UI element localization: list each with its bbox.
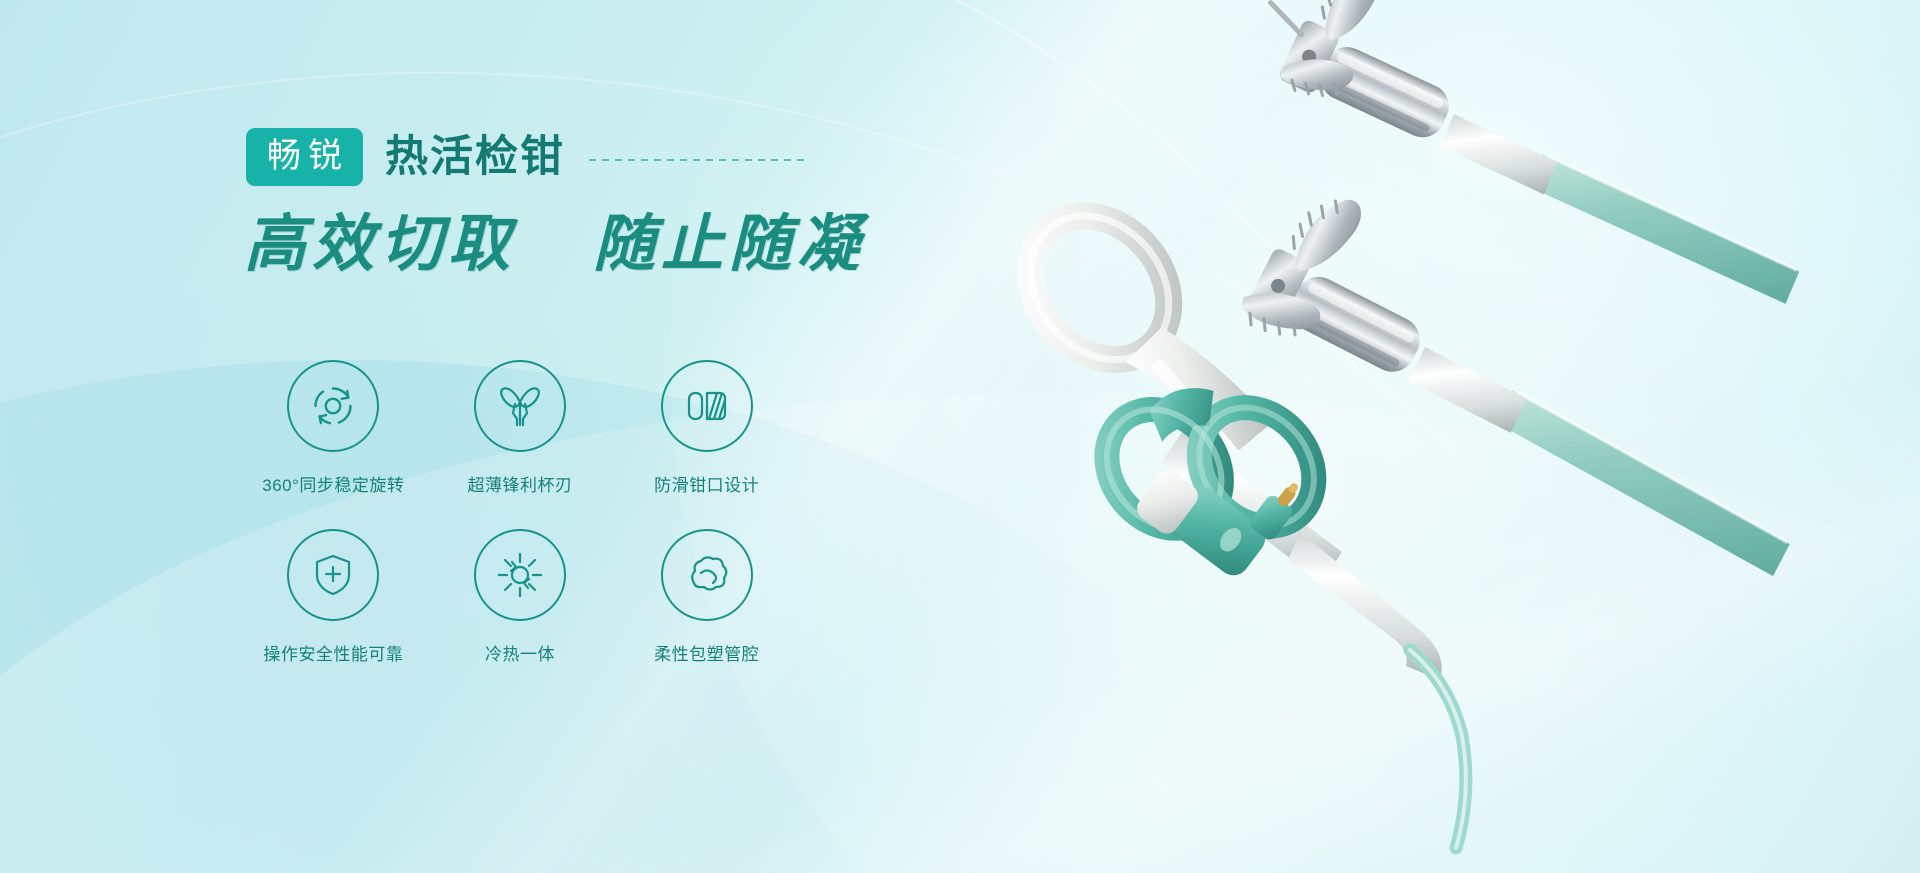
anti-slip-jaw-icon — [661, 360, 753, 452]
sharp-cup-jaws-icon — [474, 360, 566, 452]
feature-row-2: 操作安全性能可靠 冷热一体 — [240, 529, 800, 665]
feature-label: 冷热一体 — [485, 640, 555, 665]
banner-content: 畅锐 热活检钳 高效切取 随止随凝 — [0, 0, 900, 873]
feature-label: 操作安全性能可靠 — [263, 640, 403, 665]
feature-item-sharp-cup[interactable]: 超薄锋利杯刃 — [427, 360, 614, 496]
feature-label: 360°同步稳定旋转 — [262, 471, 404, 496]
feature-item-anti-slip[interactable]: 防滑钳口设计 — [613, 360, 800, 496]
product-name: 热活检钳 — [385, 136, 565, 179]
flexible-coated-lumen-icon — [661, 529, 753, 621]
headline: 高效切取 随止随凝 — [244, 214, 865, 276]
hot-cold-integrated-icon — [474, 529, 566, 621]
feature-item-hot-cold[interactable]: 冷热一体 — [427, 529, 614, 665]
feature-item-rotation[interactable]: 360°同步稳定旋转 — [240, 360, 427, 496]
product-banner: 畅锐 热活检钳 高效切取 随止随凝 — [0, 0, 1920, 873]
headline-part-1: 高效切取 — [244, 211, 516, 279]
feature-row-1: 360°同步稳定旋转 超薄锋利杯刃 — [240, 360, 800, 496]
shield-plus-safety-icon — [287, 529, 379, 621]
dotted-divider — [589, 159, 807, 161]
headline-part-2: 随止随凝 — [593, 211, 865, 279]
feature-label: 防滑钳口设计 — [654, 471, 759, 496]
feature-label: 柔性包塑管腔 — [654, 640, 759, 665]
feature-grid: 360°同步稳定旋转 超薄锋利杯刃 — [240, 360, 800, 665]
feature-item-safety[interactable]: 操作安全性能可靠 — [240, 529, 427, 665]
feature-label: 超薄锋利杯刃 — [468, 471, 573, 496]
brand-badge: 畅锐 — [246, 128, 363, 186]
title-row: 畅锐 热活检钳 — [246, 128, 807, 186]
feature-item-flexible-lumen[interactable]: 柔性包塑管腔 — [613, 529, 800, 665]
rotation-360-icon — [287, 360, 379, 452]
